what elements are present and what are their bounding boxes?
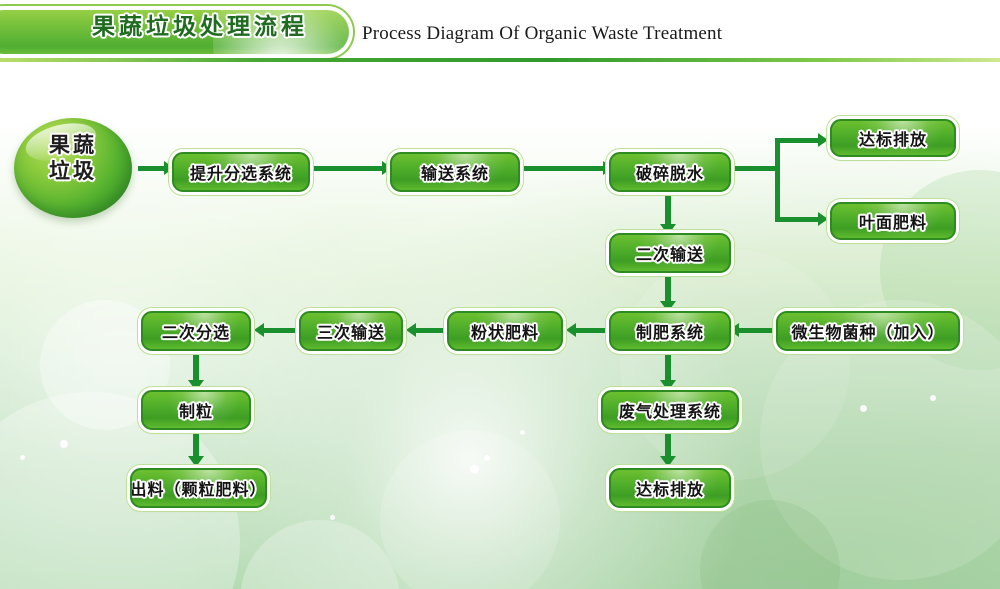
node-label: 叶面肥料 (859, 209, 927, 233)
diagram-canvas: 果蔬垃圾处理流程 Process Diagram Of Organic Wast… (0, 0, 1000, 589)
node-second-sorting[interactable]: 二次分选 (141, 311, 251, 351)
node-discharge-up-to-standard-bottom[interactable]: 达标排放 (609, 468, 731, 508)
arrowhead-left-icon (254, 323, 264, 337)
node-crushing-dewatering[interactable]: 破碎脱水 (609, 152, 731, 192)
node-lift-sorting-system[interactable]: 提升分选系统 (172, 152, 310, 192)
node-label: 输送系统 (421, 160, 489, 184)
arrowhead-left-icon (406, 323, 416, 337)
arrowhead-right-icon (818, 212, 828, 226)
node-powder-fertilizer[interactable]: 粉状肥料 (447, 311, 563, 351)
node-discharge-up-to-standard-top[interactable]: 达标排放 (830, 119, 956, 157)
node-label: 达标排放 (636, 476, 704, 500)
node-fertilizer-production-system[interactable]: 制肥系统 (609, 311, 731, 351)
connector-line (312, 166, 384, 171)
arrowhead-right-icon (818, 133, 828, 147)
connector-line (193, 350, 199, 384)
node-label: 二次输送 (636, 241, 704, 265)
node-output-granular-fertilizer[interactable]: 出料（颗粒肥料） (130, 468, 267, 508)
node-foliar-fertilizer[interactable]: 叶面肥料 (830, 202, 956, 240)
arrowhead-down-icon (188, 456, 204, 467)
connector-line (665, 350, 671, 384)
node-granulation[interactable]: 制粒 (141, 390, 251, 430)
node-label: 粉状肥料 (471, 319, 539, 343)
sparkle-dot (930, 395, 936, 401)
node-third-conveying[interactable]: 三次输送 (299, 311, 403, 351)
connector-line (138, 166, 166, 171)
sparkle-dot (484, 455, 490, 461)
connector-line (415, 328, 447, 333)
node-label: 微生物菌种（加入） (791, 319, 944, 343)
page-subtitle: Process Diagram Of Organic Waste Treatme… (362, 23, 722, 45)
connector-line (775, 217, 822, 222)
connector-line (665, 190, 671, 228)
connector-line (575, 328, 609, 333)
node-label: 废气处理系统 (619, 398, 721, 422)
header-divider (0, 58, 1000, 62)
connector-line (775, 138, 780, 222)
node-label: 三次输送 (317, 319, 385, 343)
sparkle-dot (520, 430, 525, 435)
sparkle-dot (20, 455, 25, 460)
node-label: 制肥系统 (636, 319, 704, 343)
node-label: 二次分选 (162, 319, 230, 343)
node-label: 出料（颗粒肥料） (131, 476, 267, 500)
sparkle-dot (860, 405, 867, 412)
source-node-label: 果蔬 垃圾 (14, 132, 132, 184)
node-microbial-strain-addition[interactable]: 微生物菌种（加入） (776, 311, 960, 351)
connector-line (522, 166, 605, 171)
node-conveying-system[interactable]: 输送系统 (390, 152, 520, 192)
sparkle-dot (60, 440, 68, 448)
node-second-conveying[interactable]: 二次输送 (609, 233, 731, 273)
page-title: 果蔬垃圾处理流程 (60, 12, 340, 42)
connector-line (732, 166, 778, 171)
source-label-line1: 果蔬 (14, 132, 132, 158)
arrowhead-down-icon (660, 456, 676, 467)
sparkle-dot (470, 465, 479, 474)
node-waste-gas-treatment-system[interactable]: 废气处理系统 (601, 390, 739, 430)
connector-line (775, 138, 822, 143)
source-label-line2: 垃圾 (14, 158, 132, 184)
connector-line (738, 328, 776, 333)
arrowhead-left-icon (566, 323, 576, 337)
node-label: 破碎脱水 (636, 160, 704, 184)
connector-line (263, 328, 299, 333)
sparkle-dot (330, 515, 335, 520)
node-label: 提升分选系统 (190, 160, 292, 184)
node-label: 制粒 (179, 398, 213, 422)
node-label: 达标排放 (859, 126, 927, 150)
